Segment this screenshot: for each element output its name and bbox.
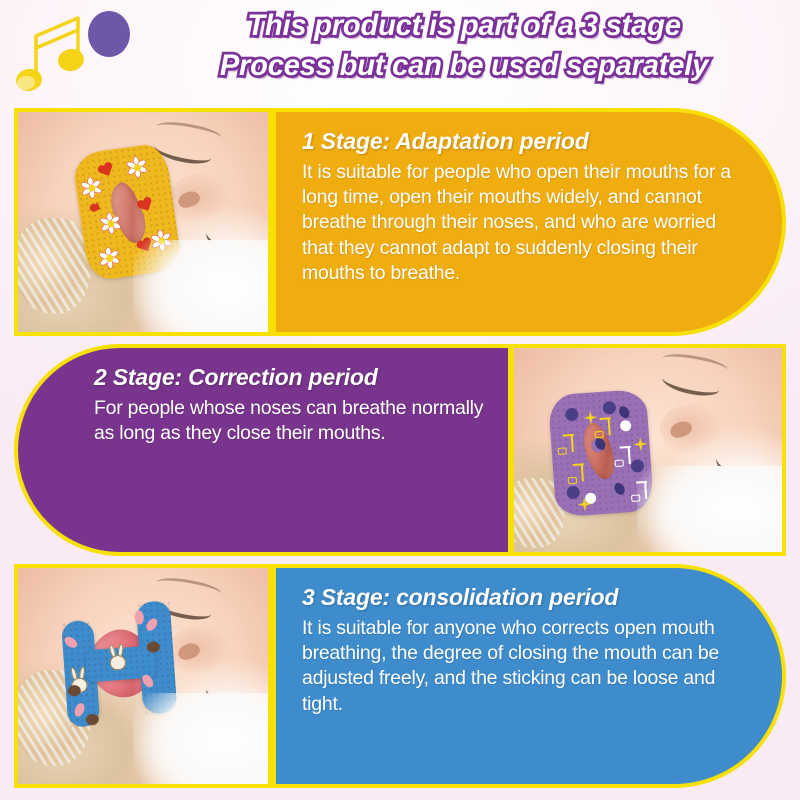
mouth-tape-floral xyxy=(72,142,183,282)
stage-3-panel: 3 Stage: consolidation period It is suit… xyxy=(272,564,786,788)
dot-decoration xyxy=(565,408,579,422)
stage-2-title: 2 Stage: Correction period xyxy=(82,364,486,392)
moon-icon xyxy=(610,482,625,497)
daisy-icon xyxy=(79,175,104,200)
baby-photo-scene xyxy=(18,112,268,332)
stage-3-title: 3 Stage: consolidation period xyxy=(302,584,748,612)
stage-2-photo xyxy=(510,344,786,556)
purple-circle-decoration xyxy=(88,11,130,57)
stage-3-photo xyxy=(14,564,272,788)
dot-decoration xyxy=(585,492,597,504)
daisy-icon xyxy=(97,245,122,270)
heart-icon xyxy=(88,201,101,213)
stage-row-3: 3 Stage: consolidation period It is suit… xyxy=(0,564,800,788)
closed-eye xyxy=(202,680,254,720)
baby-photo-scene xyxy=(18,568,268,784)
dot-decoration xyxy=(631,459,645,473)
header-banner: This product is part of a 3 stage Proces… xyxy=(0,0,800,104)
star-icon xyxy=(633,437,648,452)
page-title: This product is part of a 3 stage Proces… xyxy=(140,6,788,85)
daisy-icon xyxy=(124,155,149,180)
music-note-icon xyxy=(567,463,585,484)
closed-eye xyxy=(712,450,764,490)
stage-3-body: It is suitable for anyone who corrects o… xyxy=(302,616,748,717)
blanket-fluff xyxy=(14,218,90,314)
stage-row-2: 2 Stage: Correction period For people wh… xyxy=(0,344,800,556)
music-note-icon xyxy=(557,434,575,455)
mouth-tape-bunny xyxy=(60,600,178,727)
daisy-icon xyxy=(98,211,123,236)
baby-photo-scene xyxy=(514,348,782,552)
music-note-icon xyxy=(614,446,632,467)
stage-1-title: 1 Stage: Adaptation period xyxy=(302,128,748,156)
dot-decoration xyxy=(620,420,632,432)
moon-icon xyxy=(615,406,630,421)
stage-2-body: For people whose noses can breathe norma… xyxy=(82,396,486,447)
dot-decoration xyxy=(602,401,616,415)
stage-1-body: It is suitable for people who open their… xyxy=(302,160,748,287)
music-note-icon xyxy=(12,8,94,94)
music-note-icon xyxy=(594,417,612,438)
stage-row-1: 1 Stage: Adaptation period It is suitabl… xyxy=(0,108,800,336)
closed-eye xyxy=(202,224,254,264)
mouth-tape-music xyxy=(548,389,654,518)
music-note-icon xyxy=(630,481,648,502)
stage-2-panel: 2 Stage: Correction period For people wh… xyxy=(14,344,512,556)
stage-1-panel: 1 Stage: Adaptation period It is suitabl… xyxy=(272,108,786,336)
stage-1-photo xyxy=(14,108,272,336)
bunny-icon xyxy=(107,643,129,670)
dot-decoration xyxy=(566,486,580,500)
daisy-icon xyxy=(149,228,174,253)
